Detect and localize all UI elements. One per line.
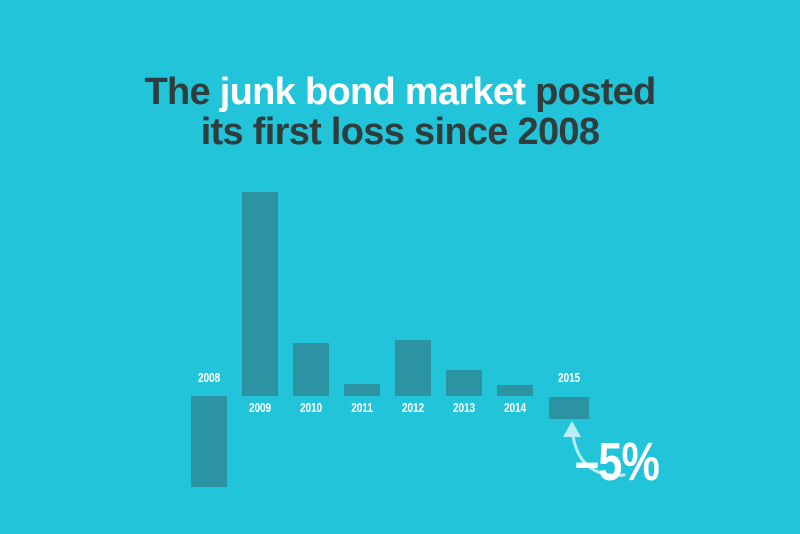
- bar-label-2008: 2008: [191, 370, 227, 385]
- callout-value: –5%: [575, 435, 659, 489]
- bar-2014: [497, 385, 533, 396]
- bar-2011: [344, 384, 380, 396]
- infographic-canvas: The junk bond market posted its first lo…: [0, 0, 800, 534]
- bar-label-2014: 2014: [497, 400, 533, 415]
- bar-label-2010: 2010: [293, 400, 329, 415]
- bar-chart: 2008 2009 2010 2011 2012 2013 2014 2015: [0, 0, 800, 534]
- bar-label-2011: 2011: [344, 400, 380, 415]
- bar-label-2013: 2013: [446, 400, 482, 415]
- bar-2008: [191, 396, 227, 487]
- bar-label-2012: 2012: [395, 400, 431, 415]
- chart-plot-area: 2008 2009 2010 2011 2012 2013 2014 2015: [191, 186, 601, 506]
- bar-2010: [293, 343, 329, 396]
- bar-2012: [395, 340, 431, 396]
- bar-2009: [242, 192, 278, 396]
- bar-label-2015: 2015: [551, 370, 587, 385]
- bar-label-2009: 2009: [242, 400, 278, 415]
- bar-2013: [446, 370, 482, 396]
